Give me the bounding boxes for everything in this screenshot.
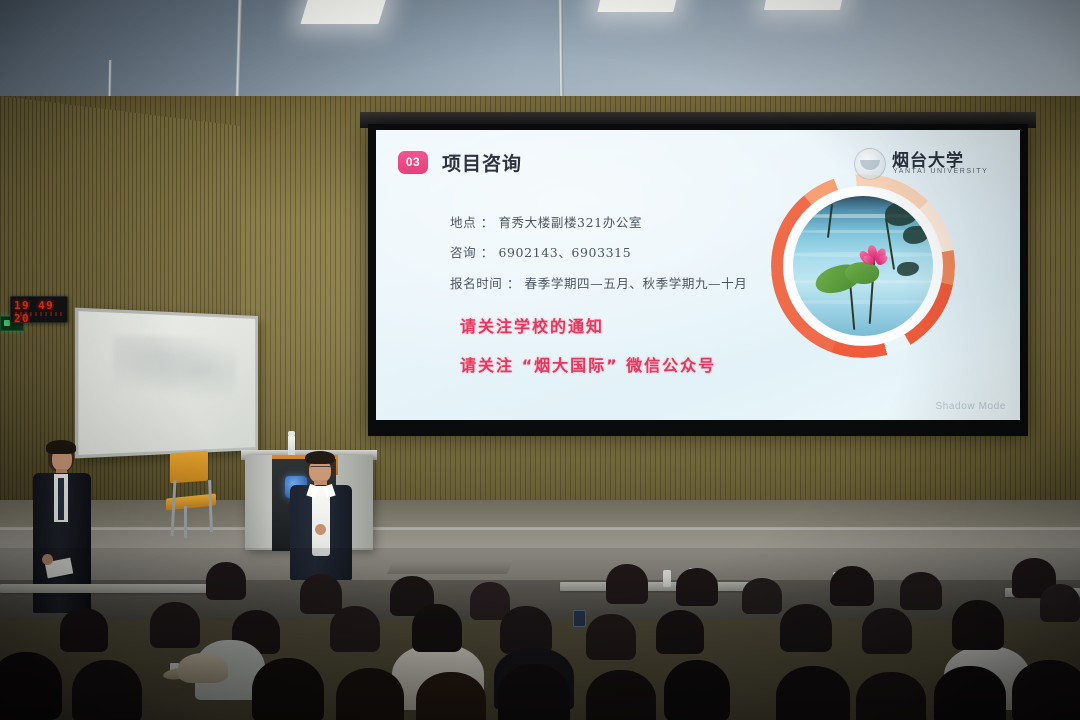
- slide-info-line: 地点 ： 育秀大楼副楼321办公室: [450, 212, 642, 231]
- audience-member: [1012, 660, 1080, 720]
- ceiling-light-panel: [300, 0, 387, 24]
- necktie: [58, 478, 64, 520]
- audience-member: [586, 614, 636, 660]
- stage-chair: [166, 452, 218, 538]
- staff-hair: [46, 440, 76, 454]
- audience-member: [656, 610, 704, 654]
- audience-member: [856, 672, 926, 720]
- audience-member: [830, 566, 874, 606]
- presenter-hair: [305, 451, 335, 464]
- whiteboard: [75, 308, 258, 459]
- audience-member: [606, 564, 648, 604]
- ceiling-light-panel: [764, 0, 844, 10]
- glasses-icon: [310, 466, 331, 472]
- whiteboard-erased-marks: [113, 335, 235, 401]
- lotus-photo: [793, 196, 933, 336]
- audience-member: [72, 660, 142, 720]
- smartphone: [573, 610, 586, 627]
- audience-member: [336, 668, 404, 720]
- ceiling-light-panel: [597, 0, 678, 12]
- university-crest-icon: [854, 148, 886, 180]
- lotus-circle-graphic: [771, 174, 955, 358]
- university-logo: 烟台大学 YANTAI UNIVERSITY: [854, 144, 1004, 184]
- chair-leg: [208, 480, 213, 532]
- chair-leg: [184, 506, 187, 538]
- slide-title: 项目咨询: [442, 149, 522, 176]
- presenter-hand: [315, 524, 326, 535]
- audience-member: [206, 562, 246, 600]
- audience-member: [934, 666, 1006, 720]
- chair-back: [170, 451, 208, 484]
- audience-member: [664, 660, 730, 720]
- audience-member: [300, 574, 342, 614]
- audience-seating: [0, 548, 1080, 720]
- audience-member: [412, 604, 462, 652]
- lecture-hall-photo: 19 49 20 03 项目咨询 地点 ： 育秀大楼副楼321办公室 咨询 ： …: [0, 0, 1080, 720]
- baseball-cap: [178, 653, 228, 683]
- led-wall-clock: 19 49 20: [10, 296, 68, 323]
- audience-member: [862, 608, 912, 654]
- audience-member: [150, 602, 200, 648]
- audience-member: [952, 600, 1004, 650]
- audience-member: [780, 604, 832, 652]
- audience-member: [0, 652, 62, 720]
- stage-edge: [0, 527, 1080, 530]
- audience-member: [676, 568, 718, 606]
- audience-member: [330, 606, 380, 652]
- water-bottle: [663, 570, 671, 587]
- audience-member: [416, 672, 486, 720]
- audience-member: [586, 670, 656, 720]
- slide-highlight-line: 请关注学校的通知: [460, 313, 604, 337]
- slide-info-line: 报名时间 ： 春季学期四—五月、秋季学期九—十月: [450, 273, 747, 292]
- presentation-slide: 03 项目咨询 地点 ： 育秀大楼副楼321办公室 咨询 ： 6902143、6…: [376, 130, 1020, 420]
- audience-member: [742, 578, 782, 614]
- audience-member: [1040, 584, 1080, 622]
- slide-info-line: 咨询 ： 6902143、6903315: [450, 242, 631, 261]
- audience-member: [776, 666, 850, 720]
- slide-section-badge: 03: [398, 151, 428, 174]
- audience-member: [900, 572, 942, 610]
- slide-watermark: Shadow Mode: [935, 401, 1006, 412]
- university-name-en: YANTAI UNIVERSITY: [893, 168, 988, 175]
- audience-member: [498, 664, 570, 720]
- audience-member: [60, 608, 108, 652]
- audience-member: [252, 658, 324, 720]
- clock-secondary-row: [15, 312, 63, 316]
- slide-highlight-line: 请关注 “烟大国际” 微信公众号: [460, 352, 716, 376]
- audience-member: [500, 606, 552, 654]
